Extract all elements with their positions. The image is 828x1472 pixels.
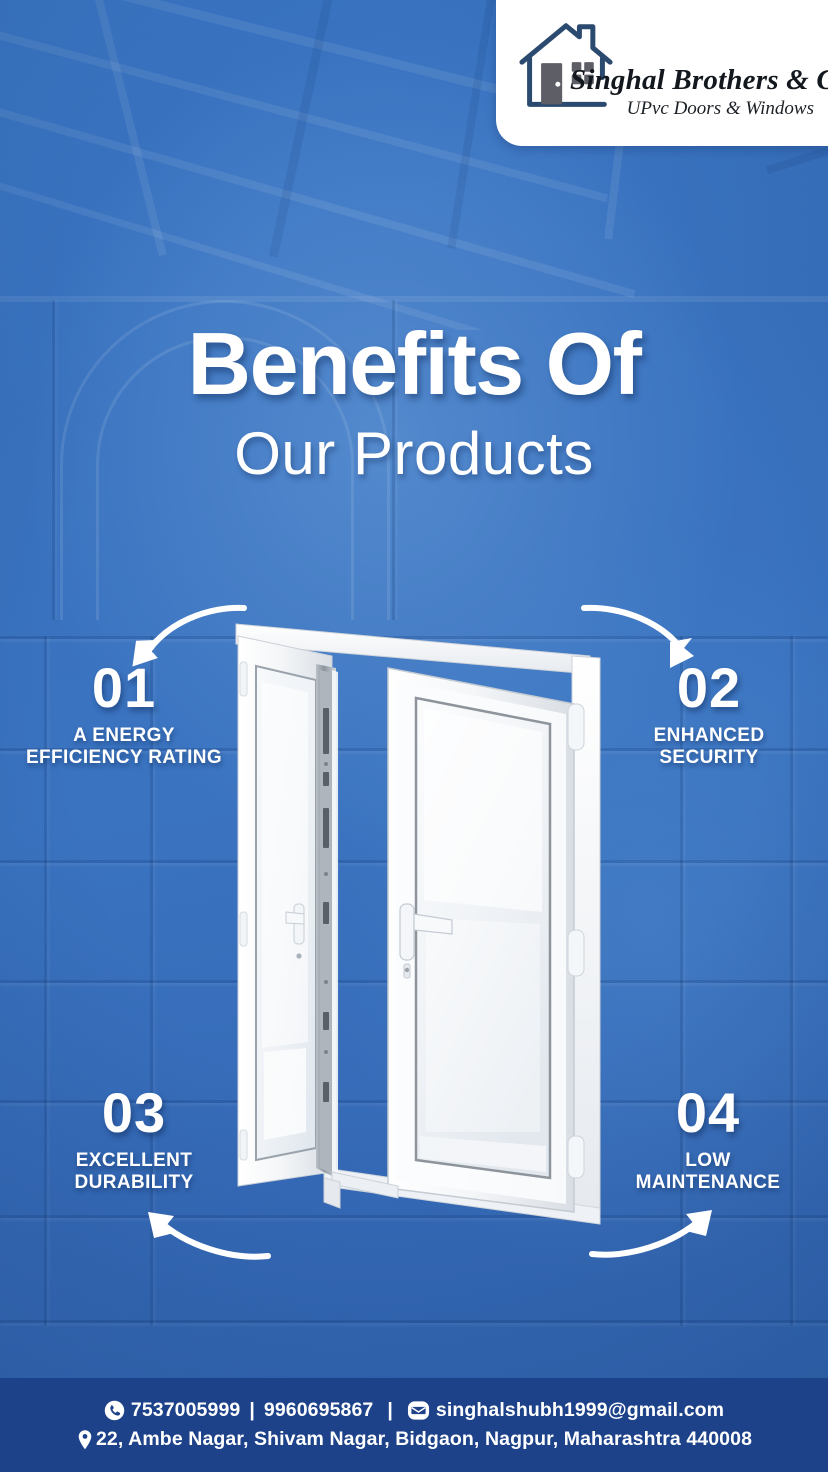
page-title: Benefits Of <box>0 318 828 410</box>
map-pin-icon <box>76 1429 94 1451</box>
benefit-item-04: 04 LOW MAINTENANCE <box>588 1085 828 1195</box>
phone-divider: | <box>240 1399 264 1422</box>
business-address[interactable]: 22, Ambe Nagar, Shivam Nagar, Bidgaon, N… <box>96 1428 752 1451</box>
curved-arrow-up-right-icon <box>588 1196 728 1268</box>
phone-icon <box>104 1400 125 1421</box>
footer-middle-divider: | <box>373 1399 407 1422</box>
benefit-number: 01 <box>0 660 248 716</box>
benefit-label: LOW MAINTENANCE <box>588 1150 828 1195</box>
brand-name: Singhal Brothers & Co. <box>570 64 816 97</box>
curved-arrow-up-left-icon <box>132 1198 272 1270</box>
benefit-label: EXCELLENT DURABILITY <box>10 1150 258 1195</box>
footer-address-row: 22, Ambe Nagar, Shivam Nagar, Bidgaon, N… <box>76 1428 752 1451</box>
page-subtitle: Our Products <box>0 420 828 487</box>
upvc-double-door-product-image <box>228 612 614 1232</box>
envelope-icon <box>407 1399 430 1422</box>
contact-footer-bar: 7537005999 | 9960695867 | singhalshubh19… <box>0 1378 828 1472</box>
benefit-item-02: 02 ENHANCED SECURITY <box>590 660 828 770</box>
benefit-number: 04 <box>588 1085 828 1141</box>
benefit-item-01: 01 A ENERGY EFFICIENCY RATING <box>0 660 248 770</box>
brand-tagline: UPvc Doors & Windows <box>570 98 816 120</box>
logo-card: Singhal Brothers & Co. UPvc Doors & Wind… <box>496 0 828 146</box>
email-address[interactable]: singhalshubh1999@gmail.com <box>436 1399 724 1422</box>
benefit-item-03: 03 EXCELLENT DURABILITY <box>10 1085 258 1195</box>
poster-canvas: Singhal Brothers & Co. UPvc Doors & Wind… <box>0 0 828 1472</box>
benefit-label: A ENERGY EFFICIENCY RATING <box>0 725 248 770</box>
benefit-number: 03 <box>10 1085 258 1141</box>
benefit-number: 02 <box>590 660 828 716</box>
page-title-block: Benefits Of Our Products <box>0 318 828 487</box>
phone-number-1[interactable]: 7537005999 <box>131 1399 240 1422</box>
benefit-label: ENHANCED SECURITY <box>590 725 828 770</box>
footer-contact-row: 7537005999 | 9960695867 | singhalshubh19… <box>104 1399 724 1422</box>
phone-number-2[interactable]: 9960695867 <box>264 1399 373 1422</box>
